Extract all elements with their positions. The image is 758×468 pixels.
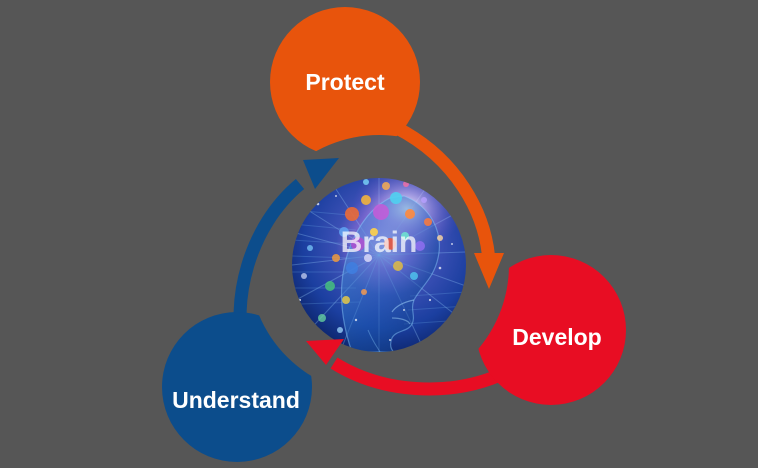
- node-protect-label: Protect: [305, 69, 385, 95]
- center-brain-image: Brain: [292, 168, 467, 352]
- center-label: Brain: [341, 226, 418, 259]
- node-understand[interactable]: Understand: [162, 312, 312, 462]
- diagram-canvas: Brain Protect Develop Unders: [0, 0, 758, 468]
- brain-cycle-diagram: Brain Protect Develop Unders: [0, 0, 758, 468]
- node-protect[interactable]: Protect: [270, 7, 420, 157]
- node-develop[interactable]: Develop: [476, 255, 626, 405]
- node-understand-label: Understand: [172, 387, 300, 413]
- node-develop-label: Develop: [512, 324, 601, 350]
